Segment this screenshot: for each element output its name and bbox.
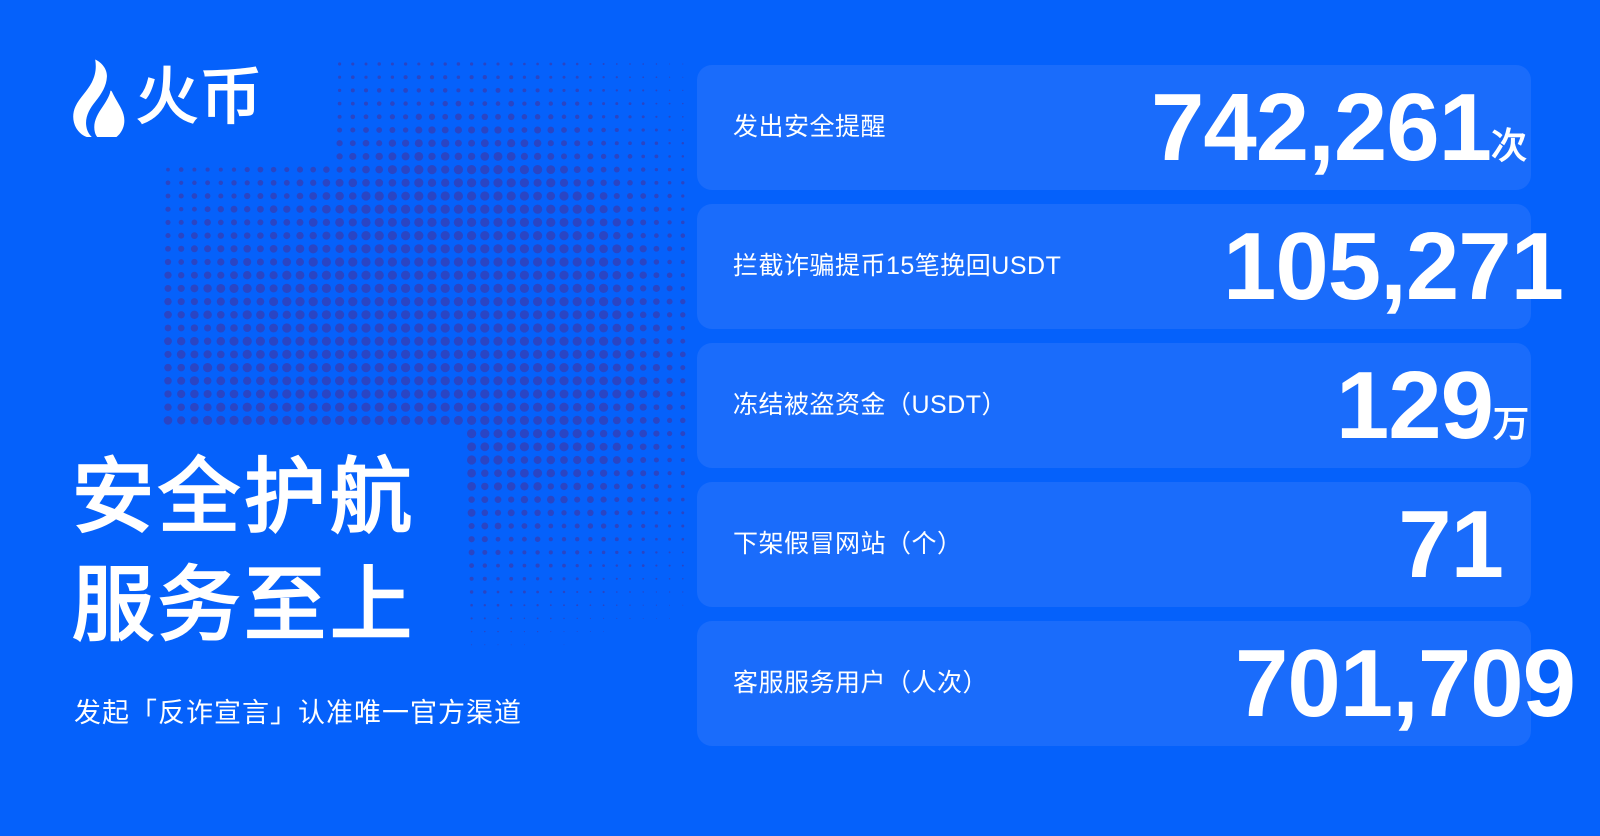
page-title: 安全护航 服务至上 [72,444,416,660]
stat-value-group: 701,709 [1235,621,1575,746]
stat-card[interactable]: 客服服务用户（人次） 701,709 [697,621,1531,746]
stat-value-group: 105,271 [1223,204,1563,329]
hero-column: 火币 安全护航 服务至上 发起「反诈宣言」认准唯一官方渠道 [72,0,672,836]
huobi-flame-icon [72,59,130,137]
stat-unit: 万 [1493,406,1529,468]
stat-value: 701,709 [1235,636,1575,732]
stats-list: 发出安全提醒 742,261 次 拦截诈骗提币15笔挽回USDT 105,271… [697,65,1531,746]
stat-card[interactable]: 发出安全提醒 742,261 次 [697,65,1531,190]
stat-value: 71 [1398,497,1503,593]
stat-value-group: 742,261 次 [1151,65,1527,190]
stat-label: 客服服务用户（人次） [733,671,988,696]
security-banner: 火币 安全护航 服务至上 发起「反诈宣言」认准唯一官方渠道 发出安全提醒 742… [0,0,1600,836]
stat-unit: 次 [1491,128,1527,190]
stat-value-group: 71 [1398,482,1503,607]
stat-value: 742,261 [1151,80,1491,176]
brand-logo[interactable]: 火币 [72,58,264,138]
brand-name: 火币 [136,67,264,129]
stat-label: 冻结被盗资金（USDT） [733,393,1007,418]
stat-label: 发出安全提醒 [733,115,886,140]
stat-label: 拦截诈骗提币15笔挽回USDT [733,254,1061,279]
stat-card[interactable]: 下架假冒网站（个） 71 [697,482,1531,607]
stat-card[interactable]: 拦截诈骗提币15笔挽回USDT 105,271 [697,204,1531,329]
stat-value: 129 [1336,358,1493,454]
stat-value: 105,271 [1223,219,1563,315]
page-subtitle: 发起「反诈宣言」认准唯一官方渠道 [74,700,522,727]
stat-value-group: 129 万 [1336,343,1529,468]
stat-card[interactable]: 冻结被盗资金（USDT） 129 万 [697,343,1531,468]
stat-label: 下架假冒网站（个） [733,532,963,557]
